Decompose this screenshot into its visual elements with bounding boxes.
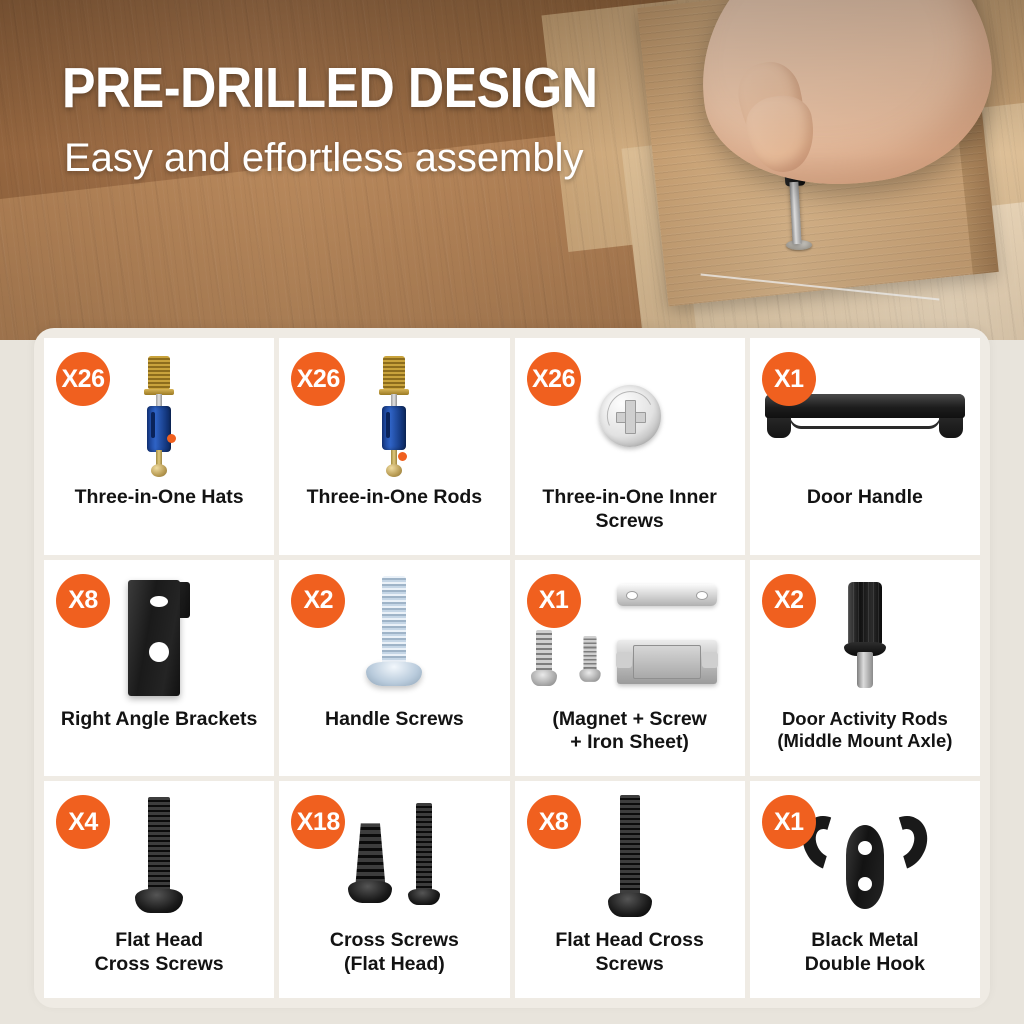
- page-subtitle: Easy and effortless assembly: [64, 136, 584, 181]
- quantity-badge: X1: [762, 795, 816, 849]
- part-cell: X26 Three-in-One Rods: [279, 338, 509, 555]
- quantity-badge: X1: [527, 574, 581, 628]
- parts-list-card: X26 Three-in-One Hats X26 Three-in-One R…: [34, 328, 990, 1008]
- part-label: (Magnet + Screw + Iron Sheet): [544, 708, 714, 756]
- part-cell: X2 Handle Screws: [279, 560, 509, 777]
- quantity-badge: X26: [56, 352, 110, 406]
- part-label: Handle Screws: [317, 708, 472, 732]
- quantity-badge: X26: [291, 352, 345, 406]
- part-label: Three-in-One Rods: [299, 486, 491, 510]
- parts-grid: X26 Three-in-One Hats X26 Three-in-One R…: [44, 338, 980, 998]
- part-cell: X4 Flat Head Cross Screws: [44, 781, 274, 998]
- part-label: Flat Head Cross Screws: [547, 929, 711, 977]
- part-label: Three-in-One Inner Screws: [534, 486, 724, 534]
- part-label: Cross Screws (Flat Head): [322, 929, 467, 977]
- part-cell: X1 Black Metal Double Hook: [750, 781, 980, 998]
- quantity-badge: X4: [56, 795, 110, 849]
- part-cell: X8 Right Angle Brackets: [44, 560, 274, 777]
- part-label: Right Angle Brackets: [53, 708, 266, 732]
- quantity-badge: X1: [762, 352, 816, 406]
- part-label: Door Handle: [799, 486, 931, 510]
- part-cell: X26 Three-in-One Inner Screws: [515, 338, 745, 555]
- part-cell: X2 Door Activity Rods (Middle Mount Axle…: [750, 560, 980, 777]
- part-label: Black Metal Double Hook: [797, 929, 933, 977]
- part-cell: X18 Cross Screws (Flat Head): [279, 781, 509, 998]
- part-cell: X26 Three-in-One Hats: [44, 338, 274, 555]
- part-cell: X1 Door Handle: [750, 338, 980, 555]
- page-title: PRE-DRILLED DESIGN: [62, 55, 598, 121]
- part-label: Door Activity Rods (Middle Mount Axle): [769, 708, 960, 753]
- quantity-badge: X2: [291, 574, 345, 628]
- quantity-badge: X26: [527, 352, 581, 406]
- quantity-badge: X2: [762, 574, 816, 628]
- part-cell: X1 (Magnet + Screw + Iron Sheet): [515, 560, 745, 777]
- quantity-badge: X8: [527, 795, 581, 849]
- part-label: Flat Head Cross Screws: [87, 929, 232, 977]
- part-cell: X8 Flat Head Cross Screws: [515, 781, 745, 998]
- part-label: Three-in-One Hats: [67, 486, 252, 510]
- quantity-badge: X8: [56, 574, 110, 628]
